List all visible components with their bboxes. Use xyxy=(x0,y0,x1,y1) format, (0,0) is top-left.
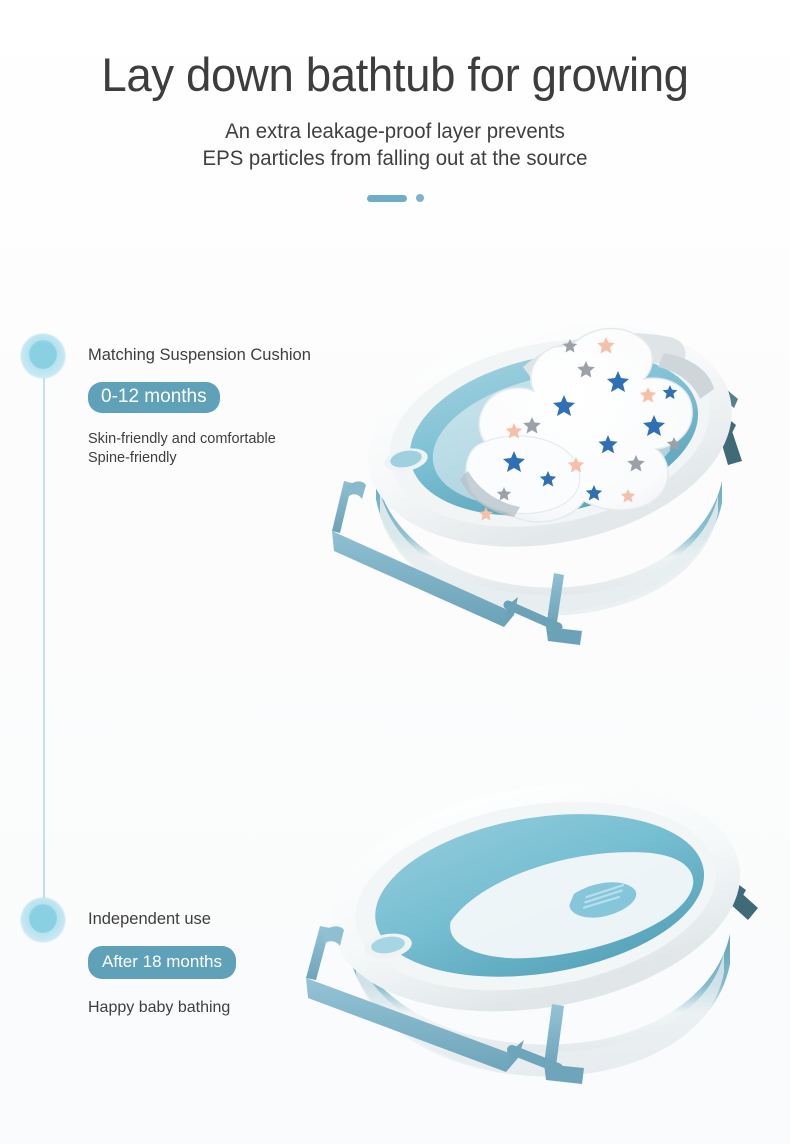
header: Lay down bathtub for growing An extra le… xyxy=(0,0,790,202)
pagination-indicator[interactable] xyxy=(0,194,790,202)
pagination-dot-inactive[interactable] xyxy=(416,194,424,202)
pagination-dot-active[interactable] xyxy=(367,195,407,202)
product-infographic: Lay down bathtub for growing An extra le… xyxy=(0,0,790,1144)
annotation-desc-2-line-1: Happy baby bathing xyxy=(88,998,236,1017)
annotation-marker-icon-2 xyxy=(21,898,65,942)
subtitle-line-1: An extra leakage-proof layer prevents xyxy=(12,118,778,145)
annotation-connector-line xyxy=(43,372,45,920)
annotation-label-2: Independent use xyxy=(88,908,236,930)
page-title: Lay down bathtub for growing xyxy=(12,44,778,106)
annotation-desc-1-line-1: Skin-friendly and comfortable xyxy=(88,430,311,449)
annotation-label-1: Matching Suspension Cushion xyxy=(88,344,311,366)
annotation-marker-icon-1 xyxy=(21,334,65,378)
annotation-block-2: Independent use After 18 months Happy ba… xyxy=(88,908,236,1017)
page-subtitle: An extra leakage-proof layer prevents EP… xyxy=(0,118,790,172)
annotation-block-1: Matching Suspension Cushion 0-12 months … xyxy=(88,344,311,468)
age-badge-2: After 18 months xyxy=(88,946,236,979)
product-image-bathtub-empty xyxy=(278,758,790,1093)
subtitle-line-2: EPS particles from falling out at the so… xyxy=(12,145,778,172)
annotation-desc-1-line-2: Spine-friendly xyxy=(88,449,311,468)
product-image-bathtub-with-cushion xyxy=(318,275,790,645)
age-badge-1: 0-12 months xyxy=(88,382,220,413)
